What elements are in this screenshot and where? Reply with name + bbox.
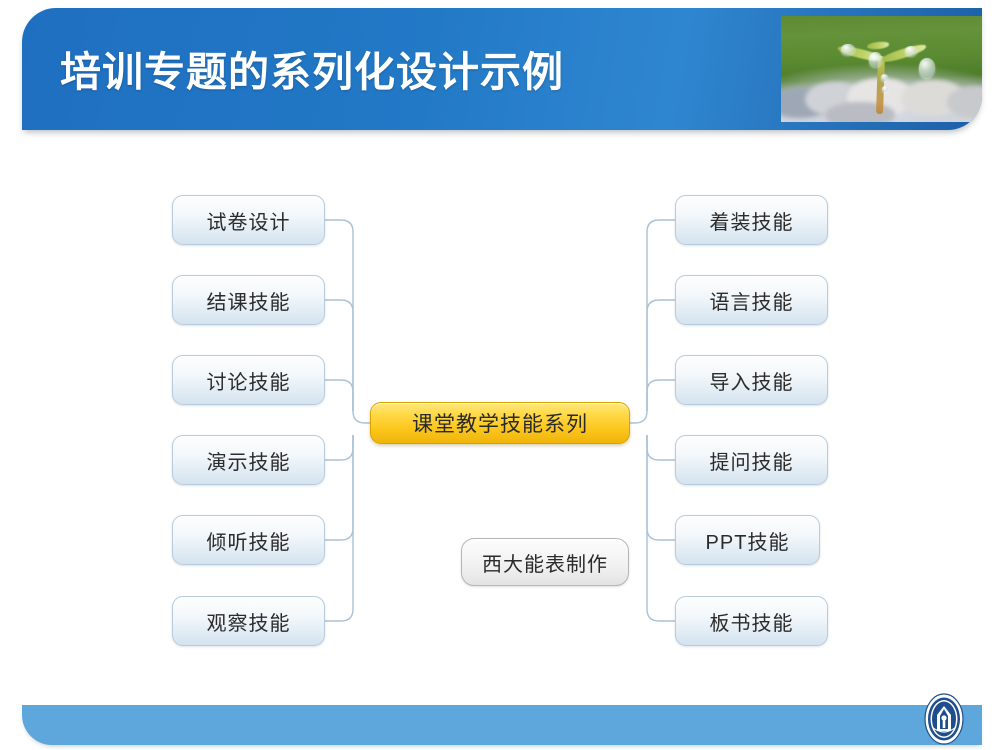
node-label: 观察技能 [207,607,291,636]
mindmap-node-left-2[interactable]: 结课技能 [172,275,325,325]
connector-left-4 [325,435,353,460]
slide-header-banner: 培训专题的系列化设计示例 [22,8,982,130]
connector-left-3 [325,380,353,411]
connector-right-1 [630,220,675,423]
node-label: 讨论技能 [207,366,291,395]
university-seal-logo-icon [924,693,964,745]
mindmap-node-left-6[interactable]: 观察技能 [172,596,325,646]
mindmap-node-left-3[interactable]: 讨论技能 [172,355,325,405]
pebble-shape [825,102,895,122]
node-label: 板书技能 [710,607,794,636]
connector-right-3 [647,380,675,411]
node-label: 西大能表制作 [482,548,608,577]
mindmap-node-orphan-1[interactable]: 西大能表制作 [461,538,629,586]
mindmap-node-right-2[interactable]: 语言技能 [675,275,828,325]
page-title: 培训专题的系列化设计示例 [60,38,564,98]
node-label: 演示技能 [207,446,291,475]
connector-left-5 [325,435,353,540]
water-droplet-shape [919,58,935,78]
connector-right-2 [647,300,675,411]
slide-canvas: 培训专题的系列化设计示例 [0,0,1000,750]
node-label: 着装技能 [710,206,794,235]
node-label: PPT技能 [706,526,790,555]
slide-footer-banner [22,705,982,745]
node-label: 试卷设计 [207,206,291,235]
mindmap-node-left-1[interactable]: 试卷设计 [172,195,325,245]
connector-right-4 [647,435,675,460]
node-label: 语言技能 [710,286,794,315]
header-photo [774,8,982,130]
connector-left-6 [325,435,353,621]
mindmap-node-right-6[interactable]: 板书技能 [675,596,828,646]
mindmap-diagram: 试卷设计 结课技能 讨论技能 演示技能 倾听技能 观察技能 着装技能 语言技能 … [0,140,1000,690]
connector-left-2 [325,300,353,411]
connector-right-5 [647,435,675,540]
node-label: 提问技能 [710,446,794,475]
mindmap-node-right-5[interactable]: PPT技能 [675,515,820,565]
connector-right-6 [647,435,675,621]
node-label: 导入技能 [710,366,794,395]
mindmap-node-right-4[interactable]: 提问技能 [675,435,828,485]
sprout-leaf-shape [867,41,889,50]
node-label: 课堂教学技能系列 [412,408,588,438]
water-droplet-shape [905,46,917,56]
seedling-photo-image [781,16,982,122]
mindmap-node-left-5[interactable]: 倾听技能 [172,515,325,565]
mindmap-center-node[interactable]: 课堂教学技能系列 [370,402,630,444]
connector-left-1 [325,220,370,423]
mindmap-node-right-3[interactable]: 导入技能 [675,355,828,405]
mindmap-node-right-1[interactable]: 着装技能 [675,195,828,245]
node-label: 结课技能 [207,286,291,315]
node-label: 倾听技能 [207,526,291,555]
mindmap-node-left-4[interactable]: 演示技能 [172,435,325,485]
